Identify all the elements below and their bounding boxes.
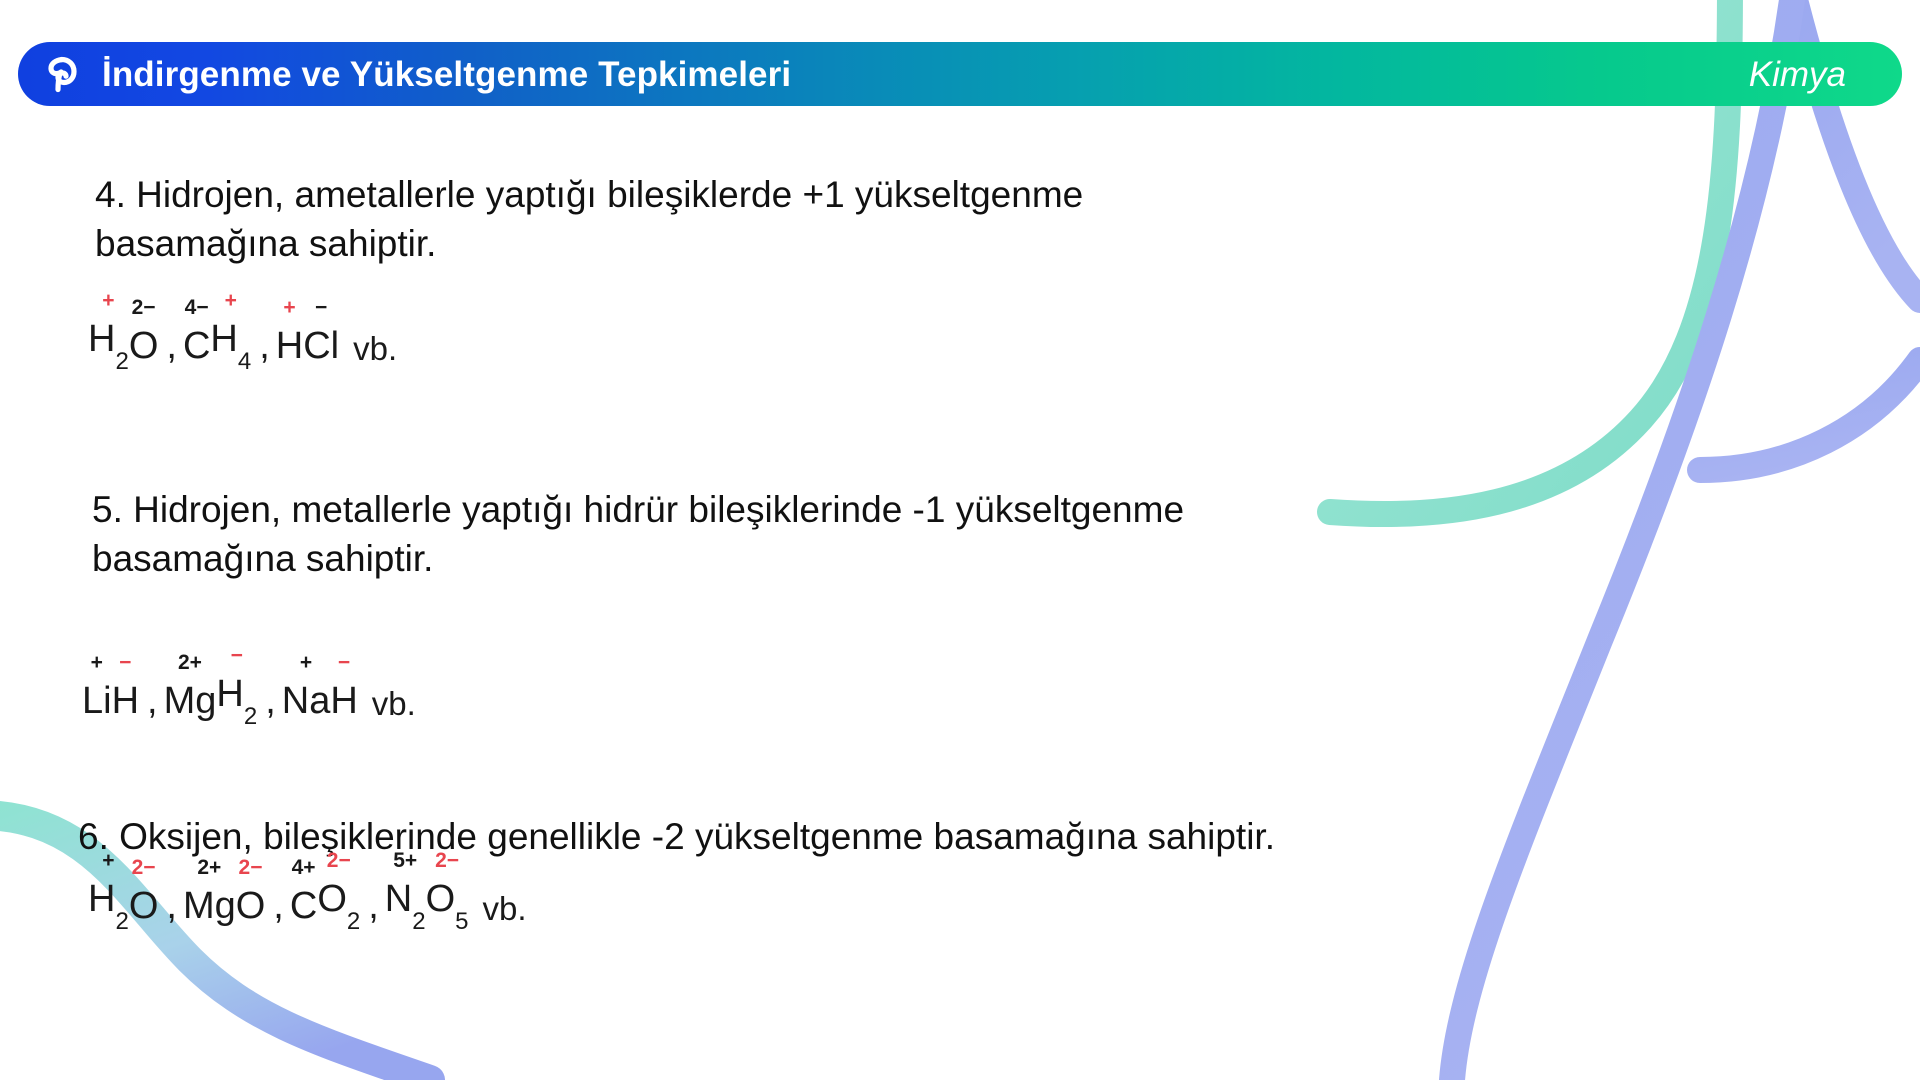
formula-row: +Li−H,2+Mg−H2,+Na−Hvb. — [82, 645, 416, 720]
formula-atom: 2−O — [129, 857, 159, 925]
oxidation-number: + — [102, 290, 114, 311]
formula-atom: +Na — [282, 652, 331, 720]
formula-separator: , — [162, 327, 183, 365]
formula-separator: , — [269, 887, 290, 925]
rule-text: 4. Hidrojen, ametallerle yaptığı bileşik… — [95, 170, 1083, 268]
oxidation-number: − — [315, 297, 327, 318]
element-symbol: C — [290, 885, 317, 927]
chemical-formula: +H22−O — [88, 290, 158, 365]
chemical-formula: 4−C+H4 — [183, 290, 251, 365]
element-symbol: H — [88, 318, 115, 360]
element-symbol: H — [112, 680, 139, 722]
oxidation-number: 5+ — [393, 850, 417, 871]
formula-atom: +H4 — [210, 290, 251, 365]
oxidation-number: 2− — [132, 857, 156, 878]
formula-atom: 2−O — [236, 857, 266, 925]
formula-atom: 2−O5 — [426, 850, 469, 925]
element-symbol: Mg — [183, 885, 236, 927]
decor-curve-periwinkle-sweep — [1452, 0, 1792, 1080]
header-banner: İndirgenme ve Yükseltgenme Tepkimeleri K… — [18, 42, 1902, 106]
chemical-formula: +H22−O — [88, 850, 158, 925]
element-symbol: O — [317, 878, 347, 920]
element-subscript: 2 — [244, 703, 257, 730]
formula-atom: +Li — [82, 652, 112, 720]
formula-atom: +H — [276, 297, 303, 365]
element-symbol: N — [385, 878, 412, 920]
element-symbol: H — [210, 318, 237, 360]
element-symbol: O — [236, 885, 266, 927]
formula-separator: , — [255, 327, 276, 365]
formula-atom: −H — [112, 652, 139, 720]
oxidation-number: 2− — [132, 297, 156, 318]
element-symbol: O — [129, 325, 159, 367]
element-subscript: 2 — [115, 908, 128, 935]
formula-separator: , — [261, 682, 282, 720]
element-symbol: Li — [82, 680, 112, 722]
element-subscript: 2 — [412, 908, 425, 935]
formula-atom: 4+C — [290, 857, 317, 925]
element-symbol: H — [216, 673, 243, 715]
element-subscript: 2 — [347, 908, 360, 935]
element-symbol: C — [183, 325, 210, 367]
examples-suffix: vb. — [353, 332, 397, 365]
oxidation-number: 2− — [327, 850, 351, 871]
chemical-formula: +Na−H — [282, 652, 358, 720]
formula-atom: 2+Mg — [183, 857, 236, 925]
formula-atom: 2−O — [129, 297, 159, 365]
oxidation-number: + — [283, 297, 295, 318]
chemical-formula: +Li−H — [82, 652, 139, 720]
oxidation-number: 2+ — [178, 652, 202, 673]
chemical-formula: 5+N22−O5 — [385, 850, 469, 925]
formula-separator: , — [162, 887, 183, 925]
oxidation-number: − — [119, 652, 131, 673]
oxidation-number: 2− — [239, 857, 263, 878]
formula-atom: 5+N2 — [385, 850, 426, 925]
formula-atom: +H2 — [88, 850, 129, 925]
oxidation-number: − — [338, 652, 350, 673]
formula-atom: 2+Mg — [164, 652, 217, 720]
element-subscript: 5 — [455, 908, 468, 935]
formula-row: +H22−O,2+Mg2−O,4+C2−O2,5+N22−O5vb. — [88, 850, 527, 925]
oxidation-number: 4+ — [292, 857, 316, 878]
subject-badge: Kimya — [1749, 57, 1868, 92]
formula-atom: −H2 — [216, 645, 257, 720]
formula-separator: , — [364, 887, 385, 925]
formula-atom: 2−O2 — [317, 850, 360, 925]
element-symbol: O — [426, 878, 456, 920]
element-symbol: H — [330, 680, 357, 722]
oxidation-number: − — [231, 645, 243, 666]
chemical-formula: 4+C2−O2 — [290, 850, 360, 925]
examples-suffix: vb. — [372, 687, 416, 720]
chemical-formula: +H−Cl — [276, 297, 339, 365]
element-symbol: Mg — [164, 680, 217, 722]
oxidation-number: + — [225, 290, 237, 311]
page-title: İndirgenme ve Yükseltgenme Tepkimeleri — [102, 57, 791, 92]
oxidation-number: + — [102, 850, 114, 871]
oxidation-number: 4− — [185, 297, 209, 318]
pikselhane-loop-logo-icon — [40, 54, 80, 94]
examples-suffix: vb. — [483, 892, 527, 925]
element-symbol: H — [276, 325, 303, 367]
element-subscript: 2 — [115, 348, 128, 375]
element-subscript: 4 — [238, 348, 251, 375]
decor-curve-periwinkle-outer — [1700, 360, 1920, 470]
formula-atom: −H — [330, 652, 357, 720]
element-symbol: O — [129, 885, 159, 927]
oxidation-number: 2− — [435, 850, 459, 871]
formula-atom: +H2 — [88, 290, 129, 365]
formula-separator: , — [143, 682, 164, 720]
chemical-formula: 2+Mg−H2 — [164, 645, 258, 720]
element-symbol: H — [88, 878, 115, 920]
oxidation-number: + — [91, 652, 103, 673]
element-symbol: Cl — [303, 325, 339, 367]
oxidation-number: 2+ — [197, 857, 221, 878]
formula-atom: 4−C — [183, 297, 210, 365]
oxidation-number: + — [300, 652, 312, 673]
element-symbol: Na — [282, 680, 331, 722]
chemical-formula: 2+Mg2−O — [183, 857, 265, 925]
formula-row: +H22−O,4−C+H4,+H−Clvb. — [88, 290, 397, 365]
rule-text: 5. Hidrojen, metallerle yaptığı hidrür b… — [92, 485, 1184, 583]
formula-atom: −Cl — [303, 297, 339, 365]
